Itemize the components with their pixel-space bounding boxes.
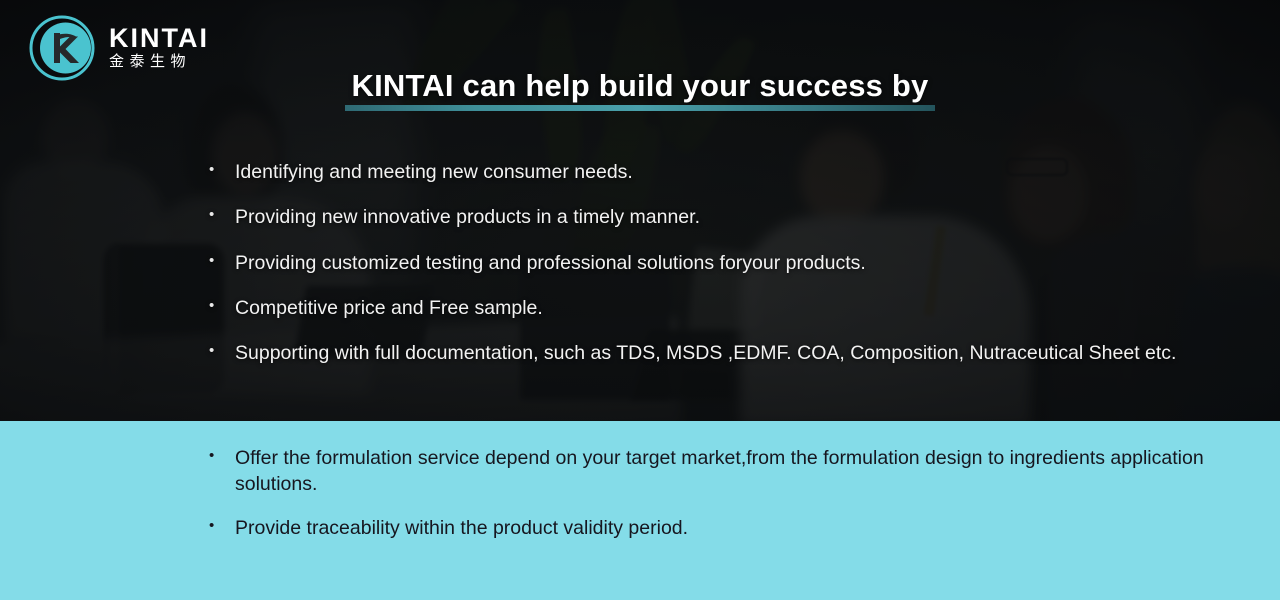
list-item: • Providing new innovative products in a…: [209, 205, 1219, 230]
list-item-label: Providing customized testing and profess…: [235, 251, 1219, 276]
slide-title-container: KINTAI can help build your success by: [0, 68, 1280, 111]
list-item-label: Competitive price and Free sample.: [235, 296, 1219, 321]
list-item-label: Offer the formulation service depend on …: [235, 446, 1219, 497]
list-item: • Competitive price and Free sample.: [209, 296, 1219, 321]
list-item-label: Provide traceability within the product …: [235, 516, 1219, 542]
title-underline-rule: [345, 105, 934, 111]
bullet-dot-icon: •: [209, 446, 235, 466]
bullet-dot-icon: •: [209, 296, 235, 316]
list-item: • Provide traceability within the produc…: [209, 516, 1219, 542]
bullet-dot-icon: •: [209, 251, 235, 271]
list-item: • Offer the formulation service depend o…: [209, 446, 1219, 497]
brand-name-en: KINTAI: [109, 25, 209, 52]
bullet-dot-icon: •: [209, 341, 235, 361]
list-item-label: Providing new innovative products in a t…: [235, 205, 1219, 230]
list-item-label: Identifying and meeting new consumer nee…: [235, 160, 1219, 185]
benefits-list-secondary: • Offer the formulation service depend o…: [209, 446, 1219, 561]
page-title: KINTAI can help build your success by: [345, 68, 934, 111]
brand-name-cn: 金泰生物: [109, 54, 209, 69]
bullet-dot-icon: •: [209, 516, 235, 536]
list-item: • Supporting with full documentation, su…: [209, 341, 1219, 366]
list-item-label: Supporting with full documentation, such…: [235, 341, 1219, 366]
page-title-text: KINTAI can help build your success by: [351, 68, 928, 103]
bullet-dot-icon: •: [209, 160, 235, 180]
bullet-dot-icon: •: [209, 205, 235, 225]
presentation-slide: KINTAI 金泰生物 KINTAI can help build your s…: [0, 0, 1280, 600]
list-item: • Providing customized testing and profe…: [209, 251, 1219, 276]
benefits-list-primary: • Identifying and meeting new consumer n…: [209, 160, 1219, 387]
list-item: • Identifying and meeting new consumer n…: [209, 160, 1219, 185]
